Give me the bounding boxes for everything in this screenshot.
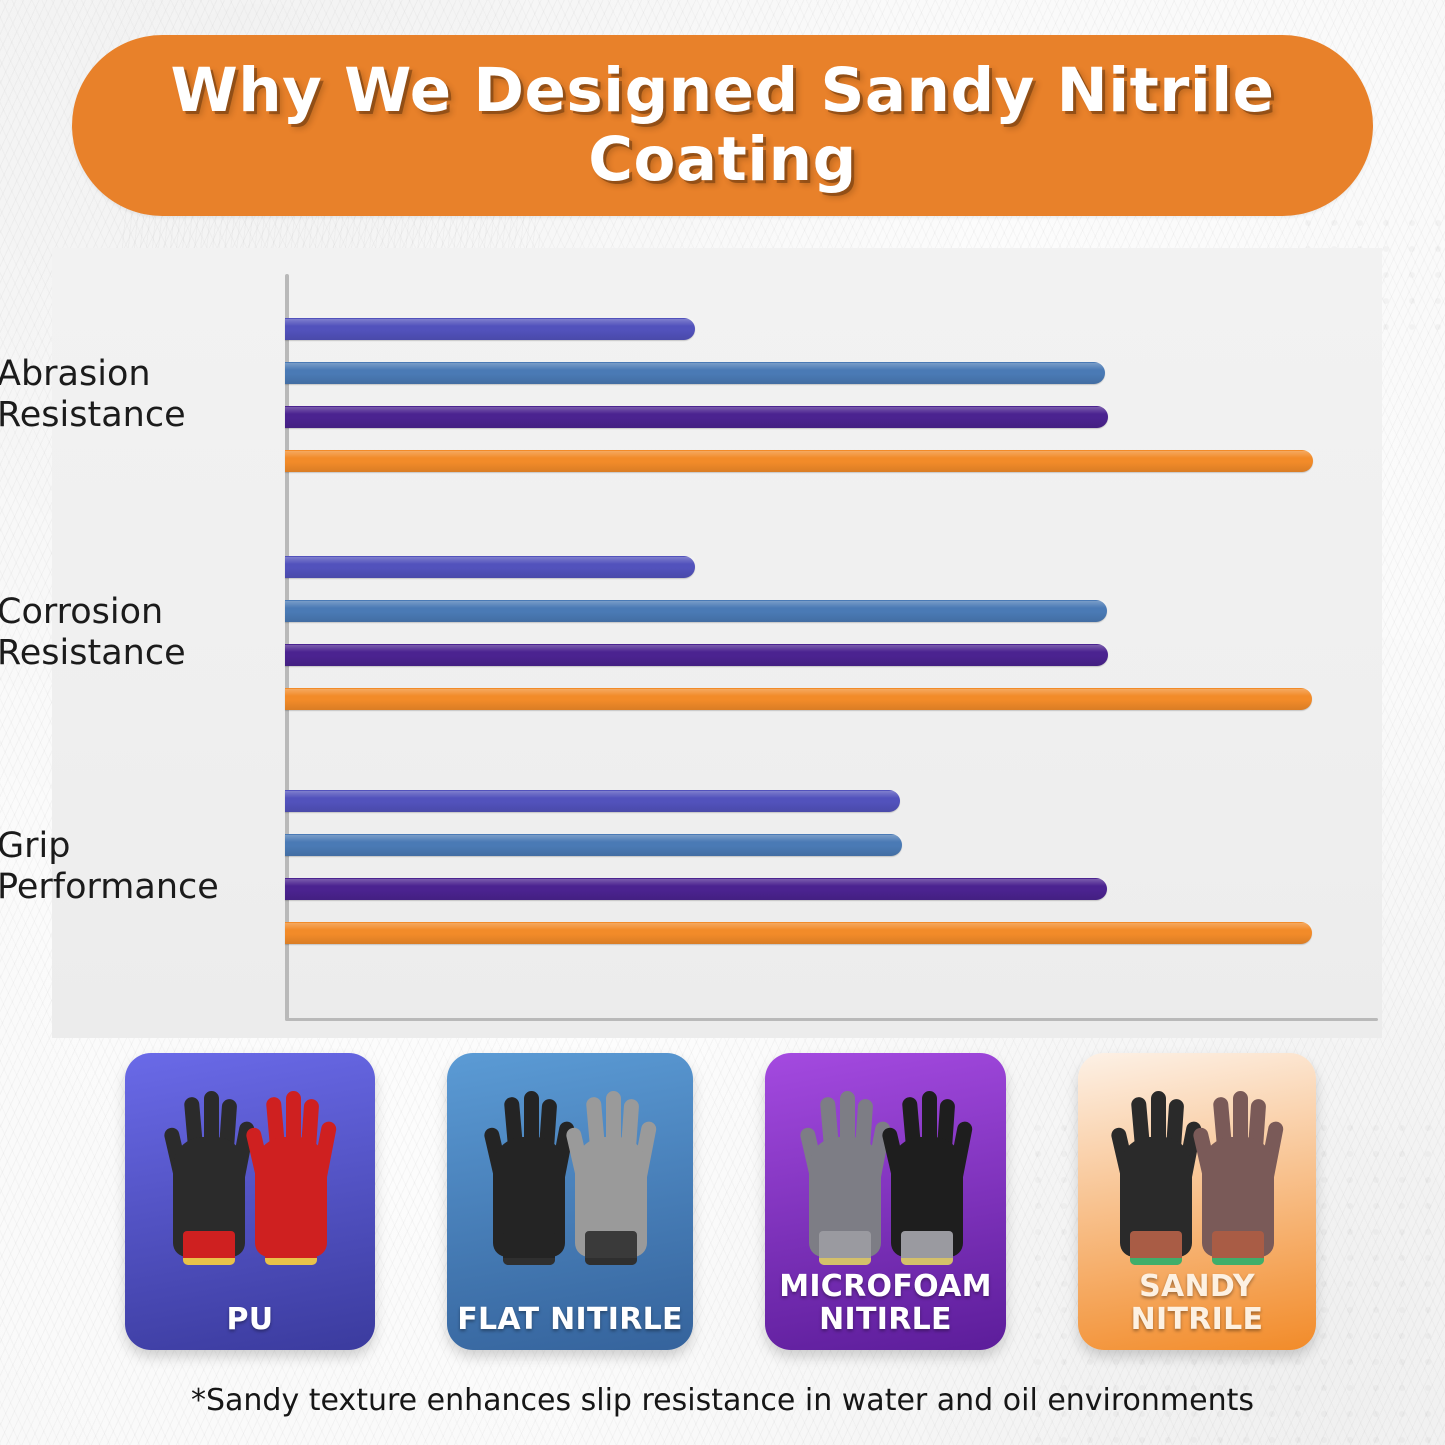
bar-flat-nitirle-corrosion (285, 600, 1107, 622)
title-banner: Why We Designed Sandy Nitrile Coating (72, 35, 1373, 216)
legend-card-pu[interactable]: PU (125, 1053, 375, 1350)
x-axis-line (285, 1018, 1378, 1021)
glove-icon (1116, 1069, 1196, 1265)
bar-pu-corrosion (285, 556, 695, 578)
glove-icon (169, 1069, 249, 1265)
legend-card-flat-nitirle[interactable]: FLAT NITIRLE (447, 1053, 693, 1350)
legend-card-row: PUFLAT NITIRLEMICROFOAM NITIRLESANDY NIT… (0, 1053, 1445, 1353)
legend-card-label: PU (221, 1304, 280, 1336)
glove-icon (251, 1069, 331, 1265)
bar-flat-nitirle-grip (285, 834, 902, 856)
bar-flat-nitirle-abrasion (285, 362, 1105, 384)
bar-pu-grip (285, 790, 900, 812)
glove-pair-icon (125, 1069, 375, 1279)
glove-pair-icon (1078, 1069, 1316, 1279)
glove-icon (571, 1069, 651, 1265)
chart-panel: Abrasion Resistance Corrosion Resistance… (52, 248, 1382, 1038)
bar-sandy-nitrile-grip (285, 922, 1312, 944)
legend-card-sandy-nitrile[interactable]: SANDY NITRILE (1078, 1053, 1316, 1350)
legend-card-label: SANDY NITRILE (1125, 1271, 1270, 1336)
footnote-text: *Sandy texture enhances slip resistance … (0, 1383, 1445, 1418)
glove-pair-icon (765, 1069, 1006, 1279)
bar-microfoam-nitirle-abrasion (285, 406, 1108, 428)
bar-sandy-nitrile-abrasion (285, 450, 1313, 472)
category-label-abrasion-resistance: Abrasion Resistance (0, 354, 257, 437)
glove-icon (1198, 1069, 1278, 1265)
infographic-root: Why We Designed Sandy Nitrile Coating Ab… (0, 0, 1445, 1445)
legend-card-microfoam-nitirle[interactable]: MICROFOAM NITIRLE (765, 1053, 1006, 1350)
legend-card-label: FLAT NITIRLE (451, 1304, 689, 1336)
legend-card-label: MICROFOAM NITIRLE (773, 1271, 998, 1336)
page-title: Why We Designed Sandy Nitrile Coating (72, 57, 1373, 194)
bar-pu-abrasion (285, 318, 695, 340)
chart-plot-area: Abrasion Resistance Corrosion Resistance… (52, 248, 1382, 1038)
glove-pair-icon (447, 1069, 693, 1279)
glove-icon (489, 1069, 569, 1265)
bar-sandy-nitrile-corrosion (285, 688, 1312, 710)
bar-microfoam-nitirle-corrosion (285, 644, 1108, 666)
category-label-corrosion-resistance: Corrosion Resistance (0, 592, 257, 675)
glove-icon (805, 1069, 885, 1265)
glove-icon (887, 1069, 967, 1265)
bar-microfoam-nitirle-grip (285, 878, 1107, 900)
category-label-grip-performance: Grip Performance (0, 826, 257, 909)
